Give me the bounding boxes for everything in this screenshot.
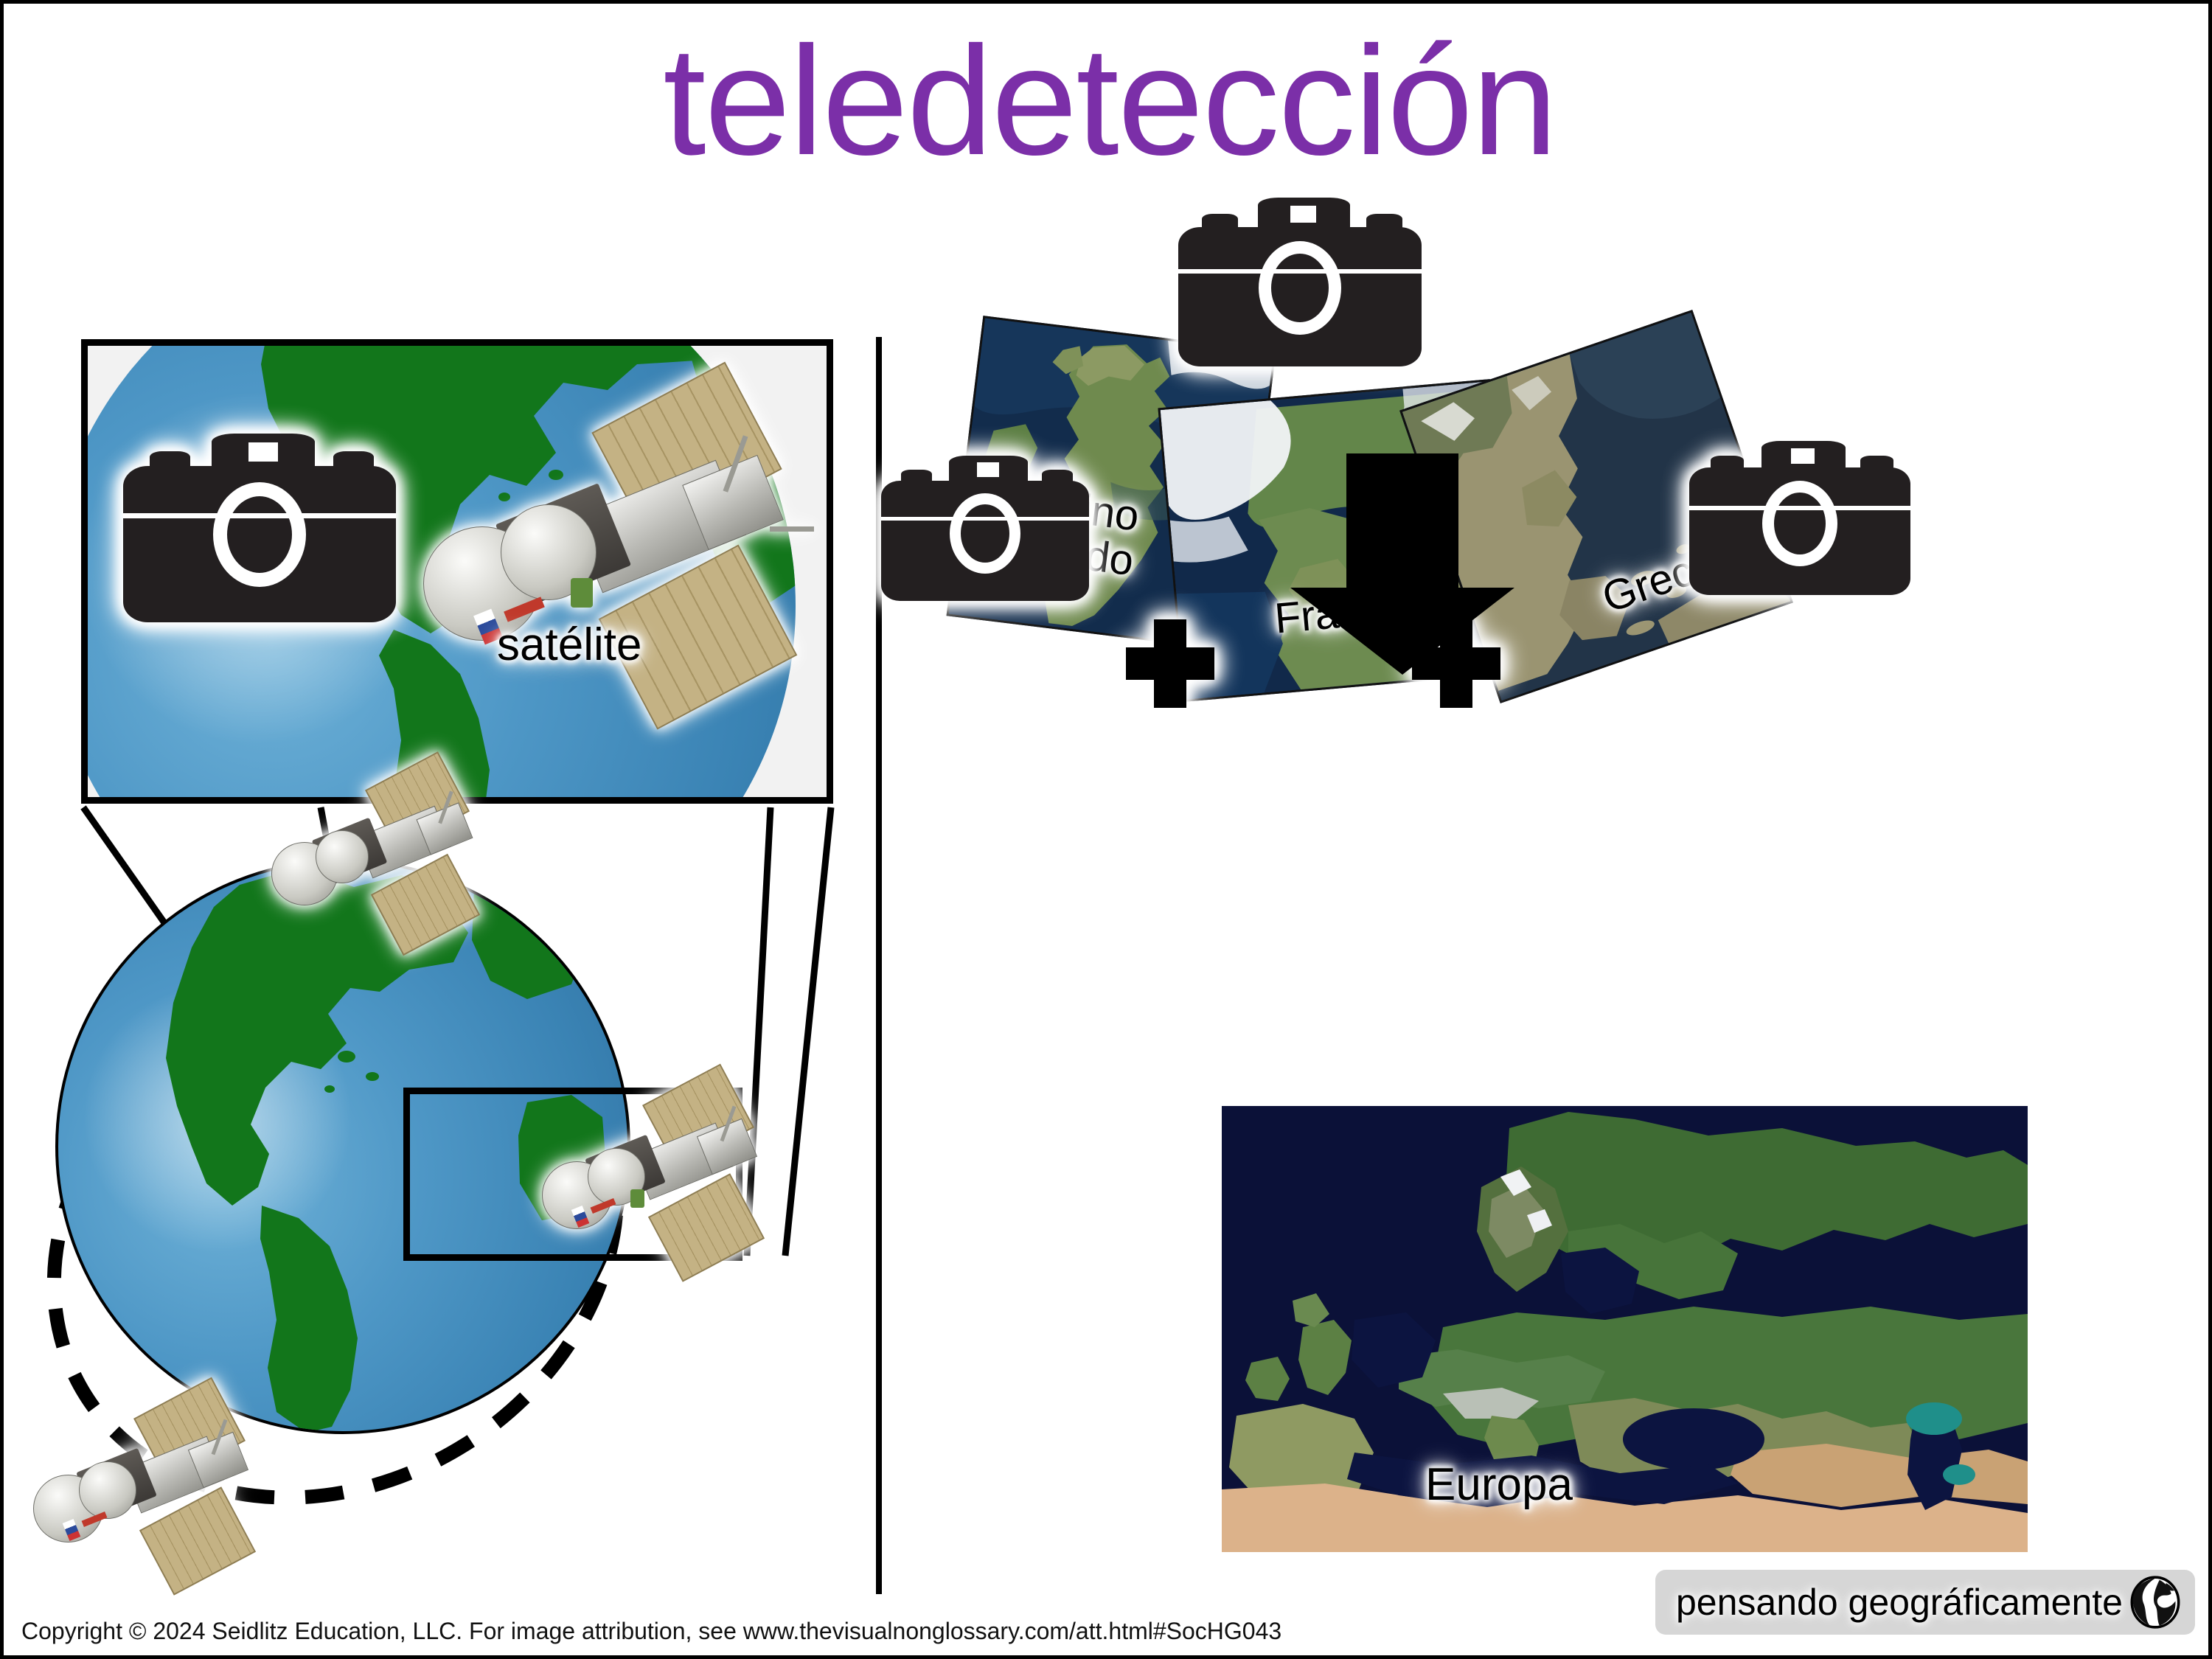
satellite-right	[527, 1080, 771, 1276]
page-title: teledetección	[4, 20, 2212, 183]
europe-imagery	[1222, 1106, 2028, 1552]
satellite-top	[258, 767, 487, 951]
left-panel: satélite	[4, 321, 874, 1604]
plus-operator-1	[1126, 619, 1214, 708]
europa-label: Europa	[1425, 1458, 1573, 1511]
europe-satellite-map[interactable]: Europa	[1222, 1106, 2028, 1552]
badge-label: pensando geográficamente	[1676, 1581, 2123, 1624]
down-arrow-icon	[1290, 453, 1514, 675]
status-badge: pensando geográficamente	[1655, 1570, 2195, 1635]
camera-icon-reino-unido	[881, 453, 1089, 601]
satellite-bottom-left	[18, 1394, 262, 1589]
poster-canvas: teledetección	[0, 0, 2212, 1659]
copyright-text: Copyright © 2024 Seidlitz Education, LLC…	[21, 1618, 1281, 1645]
camera-icon-francia	[1178, 195, 1422, 366]
right-panel: ReinoUnido Francia	[881, 321, 2212, 1604]
globe-icon	[2129, 1576, 2182, 1629]
camera-icon-grecia	[1689, 439, 1910, 595]
